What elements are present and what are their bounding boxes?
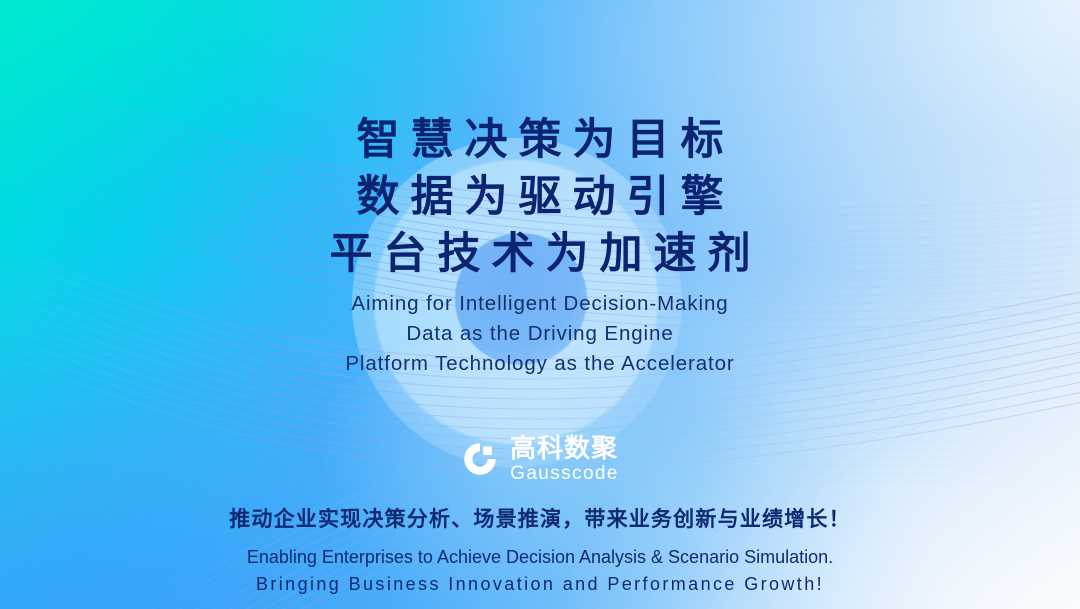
banner-content: 智慧决策为目标 数据为驱动引擎 平台技术为加速剂 Aiming for Inte…: [0, 0, 1080, 609]
logo-wordmark: 高科数聚 Gausscode: [510, 435, 619, 483]
gausscode-logo-mark-icon: [461, 440, 499, 478]
logo-name-cn: 高科数聚: [510, 435, 618, 461]
headline-line-3: 平台技术为加速剂: [319, 226, 762, 283]
subheadline-line-1: Aiming for Intelligent Decision-Making: [345, 289, 734, 319]
headline: 智慧决策为目标 数据为驱动引擎 平台技术为加速剂: [319, 112, 762, 283]
company-logo: 高科数聚 Gausscode: [461, 435, 619, 483]
footer-tagline-cn: 推动企业实现决策分析、场景推演，带来业务创新与业绩增长！: [229, 503, 851, 533]
footer-tagline-en: Enabling Enterprises to Achieve Decision…: [229, 544, 851, 598]
subheadline-line-2: Data as the Driving Engine: [345, 319, 734, 349]
logo-name-en: Gausscode: [510, 464, 619, 483]
footer-tagline-en-line-2: Bringing Business Innovation and Perform…: [229, 571, 851, 598]
footer-tagline: 推动企业实现决策分析、场景推演，带来业务创新与业绩增长！ Enabling En…: [229, 503, 851, 598]
promo-banner: 智慧决策为目标 数据为驱动引擎 平台技术为加速剂 Aiming for Inte…: [0, 0, 1080, 609]
subheadline-line-3: Platform Technology as the Accelerator: [345, 349, 734, 379]
footer-tagline-en-line-1: Enabling Enterprises to Achieve Decision…: [229, 544, 851, 571]
headline-line-1: 智慧决策为目标: [319, 112, 762, 169]
subheadline: Aiming for Intelligent Decision-Making D…: [345, 289, 734, 379]
headline-line-2: 数据为驱动引擎: [319, 169, 762, 226]
